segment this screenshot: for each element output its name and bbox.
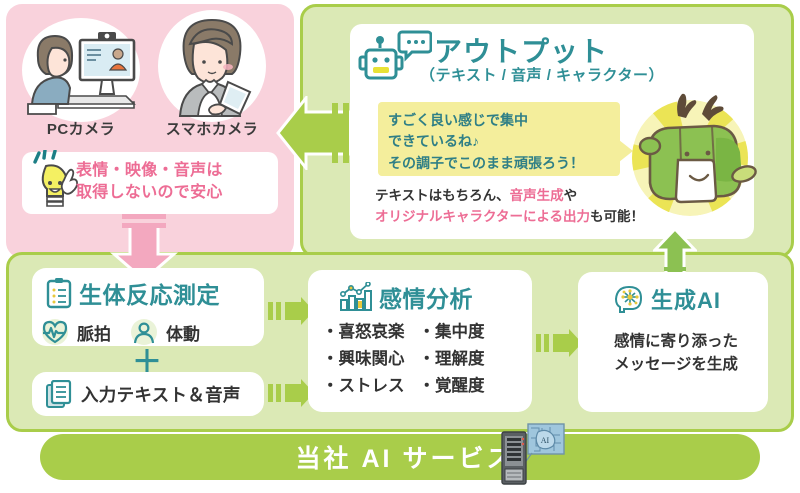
assurance-line-1: 表情・映像・音声は bbox=[76, 160, 276, 182]
smartphone-camera-illustration bbox=[158, 10, 266, 122]
emotion-item: ・理解度 bbox=[419, 345, 485, 369]
svg-text:AI: AI bbox=[541, 436, 550, 445]
bar-chart-icon bbox=[340, 282, 372, 312]
output-speech-balloon: すごく良い感じで集中 できているね♪ その調子でこのまま頑張ろう！ bbox=[378, 102, 620, 176]
balloon-text: すごく良い感じで集中 できているね♪ その調子でこのまま頑張ろう！ bbox=[388, 110, 614, 174]
documents-icon bbox=[46, 380, 72, 408]
genai-line-2: メッセージを生成 bbox=[596, 353, 756, 376]
arrow-to-output-tail bbox=[330, 103, 352, 163]
emotion-item: ・集中度 bbox=[419, 318, 485, 342]
input-text-row: 入力テキスト＆音声 bbox=[46, 380, 241, 408]
arrow-to-bio-tail bbox=[122, 214, 166, 232]
emotion-item: ・興味関心 bbox=[322, 345, 405, 369]
brain-head-icon bbox=[614, 284, 644, 314]
emotion-column-2: ・集中度 ・理解度 ・覚醒度 bbox=[419, 318, 485, 396]
bio-metric-motion: 体動 bbox=[129, 318, 200, 346]
green-deer-character-mascot bbox=[616, 82, 768, 232]
diagram-canvas: PCカメラ スマホカメラ bbox=[0, 0, 800, 493]
bio-measurement-heading: 生体反応測定 bbox=[46, 276, 220, 310]
generative-ai-heading: 生成AI bbox=[614, 283, 721, 315]
service-footer-label: 当社 AI サービス bbox=[296, 439, 515, 475]
bio-measurement-title: 生体反応測定 bbox=[79, 276, 220, 310]
emotion-analysis-title: 感情分析 bbox=[379, 280, 473, 314]
note-accent-2: オリジナルキャラクターによる出力 bbox=[375, 209, 590, 224]
privacy-assurance-text: 表情・映像・音声は 取得しないので安心 bbox=[76, 160, 276, 204]
server-ai-chip-icon: AI bbox=[498, 422, 566, 486]
note-accent-1: 音声生成 bbox=[510, 188, 564, 203]
bio-metrics-row: 脈拍 体動 bbox=[40, 318, 260, 346]
genai-line-1: 感情に寄り添った bbox=[596, 330, 756, 353]
emotion-column-1: ・喜怒哀楽 ・興味関心 ・ストレス bbox=[322, 318, 405, 396]
assurance-line-2: 取得しないので安心 bbox=[76, 182, 276, 204]
pc-camera-label: PCカメラ bbox=[22, 118, 140, 139]
clipboard-icon bbox=[46, 277, 72, 309]
balloon-line-2: できているね♪ bbox=[388, 131, 614, 152]
emotion-item: ・ストレス bbox=[322, 372, 405, 396]
note-plain-2: や bbox=[564, 188, 578, 203]
generative-ai-title: 生成AI bbox=[651, 283, 721, 315]
balloon-line-1: すごく良い感じで集中 bbox=[388, 110, 614, 131]
balloon-line-3: その調子でこのまま頑張ろう！ bbox=[388, 153, 614, 174]
bio-metric-motion-label: 体動 bbox=[166, 320, 200, 345]
input-text-label: 入力テキスト＆音声 bbox=[81, 382, 241, 407]
emotion-item: ・喜怒哀楽 bbox=[322, 318, 405, 342]
note-plain-1: テキストはもちろん、 bbox=[375, 188, 510, 203]
pc-camera-illustration bbox=[22, 18, 140, 122]
emotion-analysis-heading: 感情分析 bbox=[340, 280, 473, 314]
bio-metric-pulse: 脈拍 bbox=[40, 318, 111, 346]
bio-metric-pulse-label: 脈拍 bbox=[77, 320, 111, 345]
arrow-emotion-to-genai bbox=[536, 328, 582, 358]
person-motion-icon bbox=[129, 318, 159, 346]
smartphone-camera-label: スマホカメラ bbox=[150, 118, 274, 139]
emotion-item: ・覚醒度 bbox=[419, 372, 485, 396]
lightbulb-mascot-icon bbox=[28, 150, 80, 214]
heart-pulse-icon bbox=[40, 318, 70, 346]
service-footer-bar: 当社 AI サービス bbox=[40, 434, 760, 480]
emotion-items-columns: ・喜怒哀楽 ・興味関心 ・ストレス ・集中度 ・理解度 ・覚醒度 bbox=[322, 318, 528, 396]
generative-ai-description: 感情に寄り添った メッセージを生成 bbox=[596, 330, 756, 377]
